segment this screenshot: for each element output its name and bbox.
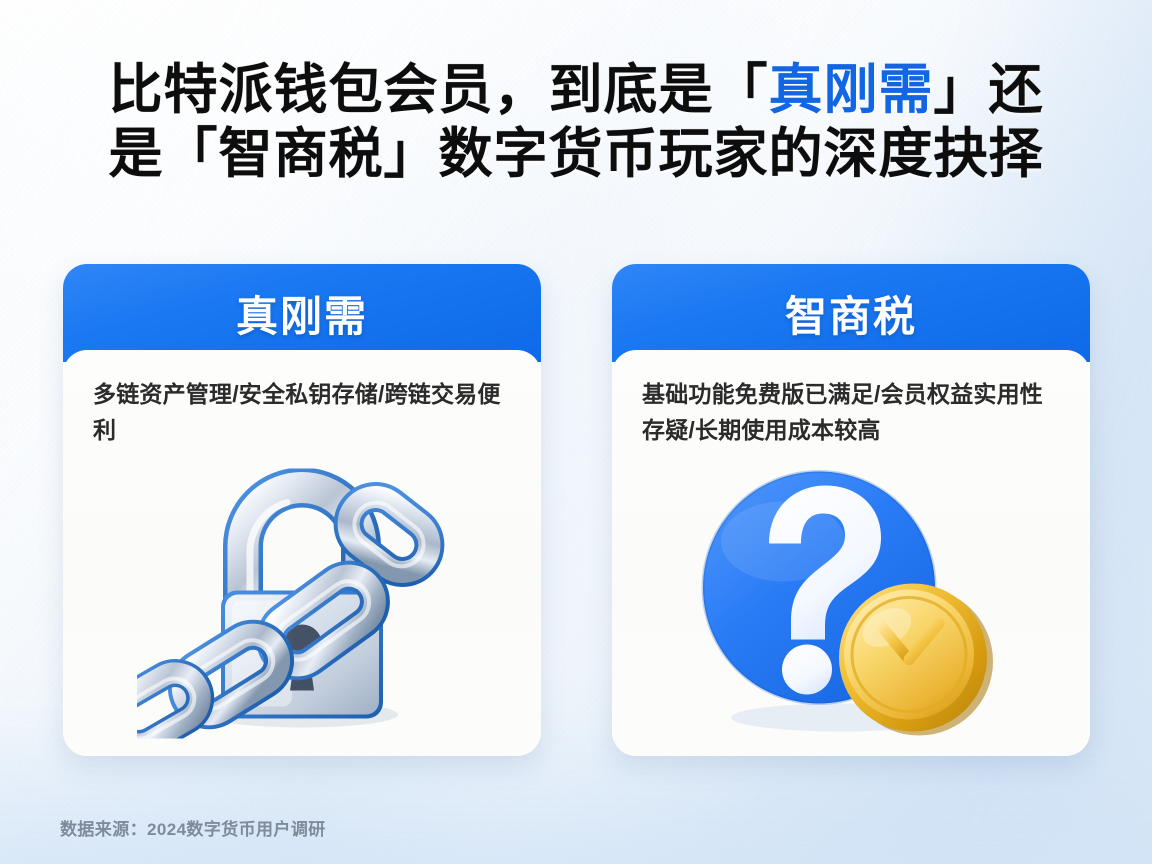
padlock-chain-illustration bbox=[63, 460, 541, 752]
card-header-label: 真刚需 bbox=[236, 283, 368, 344]
title-highlight: 真刚需 bbox=[769, 60, 934, 120]
card-body-real-need: 多链资产管理/安全私钥存储/跨链交易便利 bbox=[63, 350, 541, 756]
card-header-real-need: 真刚需 bbox=[63, 264, 541, 362]
card-real-need[interactable]: 真刚需 多链资产管理/安全私钥存储/跨链交易便利 bbox=[63, 264, 541, 756]
slide-canvas: 比特派钱包会员，到底是「真刚需」还 是「智商税」数字货币玩家的深度抉择 真刚需 … bbox=[0, 0, 1152, 864]
card-iq-tax[interactable]: 智商税 基础功能免费版已满足/会员权益实用性存疑/长期使用成本较高 bbox=[612, 264, 1090, 756]
card-description: 多链资产管理/安全私钥存储/跨链交易便利 bbox=[93, 376, 511, 448]
padlock-chain-svg bbox=[137, 469, 467, 739]
question-coin-svg bbox=[691, 468, 1011, 740]
card-body-iq-tax: 基础功能免费版已满足/会员权益实用性存疑/长期使用成本较高 bbox=[612, 350, 1090, 756]
page-title: 比特派钱包会员，到底是「真刚需」还 是「智商税」数字货币玩家的深度抉择 bbox=[0, 58, 1152, 186]
question-mark-coin-illustration bbox=[612, 460, 1090, 752]
question-coin-icon bbox=[691, 468, 1011, 745]
card-header-label: 智商税 bbox=[785, 283, 917, 344]
title-prefix: 比特派钱包会员，到底是「 bbox=[109, 60, 769, 120]
title-suffix: 」还 bbox=[934, 60, 1044, 120]
card-header-iq-tax: 智商税 bbox=[612, 264, 1090, 362]
data-source-note: 数据来源：2024数字货币用户调研 bbox=[60, 815, 326, 840]
title-line-2: 是「智商税」数字货币玩家的深度抉择 bbox=[48, 122, 1104, 186]
title-line-1: 比特派钱包会员，到底是「真刚需」还 bbox=[48, 58, 1104, 122]
padlock-chain-icon bbox=[137, 469, 467, 744]
card-description: 基础功能免费版已满足/会员权益实用性存疑/长期使用成本较高 bbox=[642, 376, 1060, 448]
